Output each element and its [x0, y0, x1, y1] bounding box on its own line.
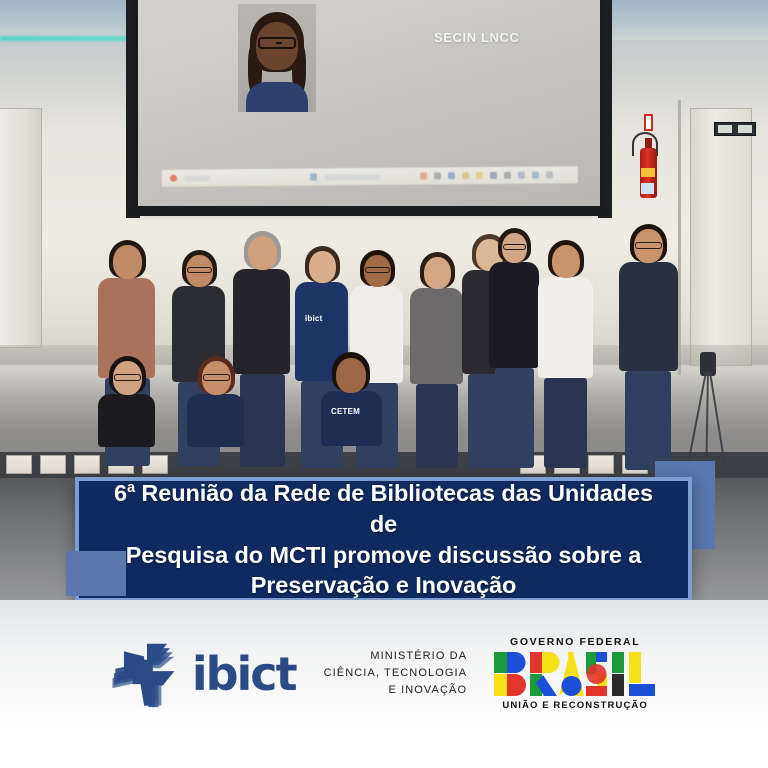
- ibict-logo: ibict: [111, 638, 296, 710]
- person-6: [408, 252, 466, 470]
- mic-icon: [420, 173, 427, 180]
- ibict-pinwheel-logo: [111, 638, 183, 710]
- ibict-wordmark: ibict: [192, 651, 296, 697]
- title-banner-box: 6a Reunião da Rede de Bibliotecas das Un…: [75, 477, 692, 602]
- governo-federal-tagline: UNIÃO E RECONSTRUÇÃO: [502, 700, 648, 711]
- person-glasses-icon: [187, 267, 212, 273]
- title-banner: 6a Reunião da Rede de Bibliotecas das Un…: [75, 477, 692, 602]
- ministry-line-2: CIÊNCIA, TECNOLOGIA: [324, 665, 468, 682]
- governo-federal-logo: GOVERNO FEDERAL: [493, 636, 657, 711]
- banner-line-2: Pesquisa do MCTI promove discussão sobre…: [126, 542, 642, 568]
- person-body: [489, 262, 539, 368]
- exit-sign-icon: [714, 122, 756, 136]
- person-legs: [625, 371, 671, 470]
- person-glasses-icon: [114, 374, 141, 381]
- share-screen-icon: [448, 172, 455, 179]
- person-head: [309, 251, 336, 283]
- door-icon-left: [0, 108, 42, 348]
- video-participant-tile: [238, 4, 316, 112]
- person-glasses-icon: [635, 242, 662, 249]
- accent-rect-bottom-left: [66, 551, 126, 596]
- person-body: [98, 394, 155, 447]
- ministry-line-1: MINISTÉRIO DA: [324, 648, 468, 665]
- person-head: [113, 245, 142, 279]
- person-9: [536, 240, 596, 470]
- person-head: [336, 358, 366, 393]
- participants-icon: [490, 172, 497, 179]
- grid-icon: [310, 173, 317, 180]
- person-11: [96, 356, 158, 476]
- banner-title-text: 6a Reunião da Rede de Bibliotecas das Un…: [79, 478, 688, 600]
- person-10: [616, 224, 680, 472]
- person-13: CETEM: [318, 352, 384, 476]
- person-body: [619, 262, 678, 371]
- person-glasses-icon: [203, 374, 230, 381]
- door-icon-right: [690, 108, 752, 366]
- fire-extinguisher-sign-icon: [644, 114, 653, 131]
- ministry-line-3: E INOVAÇÃO: [324, 682, 468, 699]
- shirt-logo-text: CETEM: [331, 407, 360, 416]
- projection-screen: SECIN LNCC: [138, 0, 600, 208]
- person-12: [185, 356, 247, 476]
- camera-icon: [434, 172, 441, 179]
- person-legs: [544, 378, 587, 468]
- fire-extinguisher-tag: [641, 183, 654, 194]
- footer: ibict MINISTÉRIO DA CIÊNCIA, TECNOLOGIA …: [0, 600, 768, 768]
- person-body: [187, 394, 244, 447]
- person-head: [248, 236, 277, 270]
- fire-extinguisher-label: [641, 168, 655, 177]
- governo-federal-label: GOVERNO FEDERAL: [510, 636, 640, 648]
- person-body: [410, 288, 463, 384]
- shirt-logo-text: ibict: [305, 314, 322, 323]
- person-body: [538, 277, 593, 378]
- poster-canvas: SECIN LNCC: [0, 0, 768, 768]
- banner-line-1: 6a Reunião da Rede de Bibliotecas das Un…: [114, 480, 653, 537]
- meeting-toolbar: [162, 166, 578, 187]
- search-icon: [324, 173, 380, 179]
- meeting-label: SECIN LNCC: [434, 30, 519, 45]
- person-legs: [495, 368, 534, 468]
- person-legs: [416, 384, 458, 468]
- person-8: [487, 228, 541, 470]
- brasil-wordmark: [493, 651, 657, 697]
- screen-bottom-bar: [126, 206, 612, 216]
- ministry-text: MINISTÉRIO DA CIÊNCIA, TECNOLOGIA E INOV…: [322, 648, 468, 699]
- chat-icon: [462, 172, 469, 179]
- more-icon: [504, 172, 511, 179]
- person-glasses-icon: [365, 267, 390, 273]
- leave-icon: [518, 172, 525, 179]
- person-head: [552, 245, 580, 278]
- screen-housing-right: [598, 0, 612, 218]
- participant-glasses-icon: [258, 37, 296, 49]
- reactions-icon: [476, 172, 483, 179]
- person-head: [424, 257, 451, 289]
- record-dot-icon: [170, 175, 177, 182]
- person-body: [321, 391, 382, 446]
- banner-line-3: Preservação e Inovação: [251, 572, 517, 598]
- person-glasses-icon: [503, 244, 526, 250]
